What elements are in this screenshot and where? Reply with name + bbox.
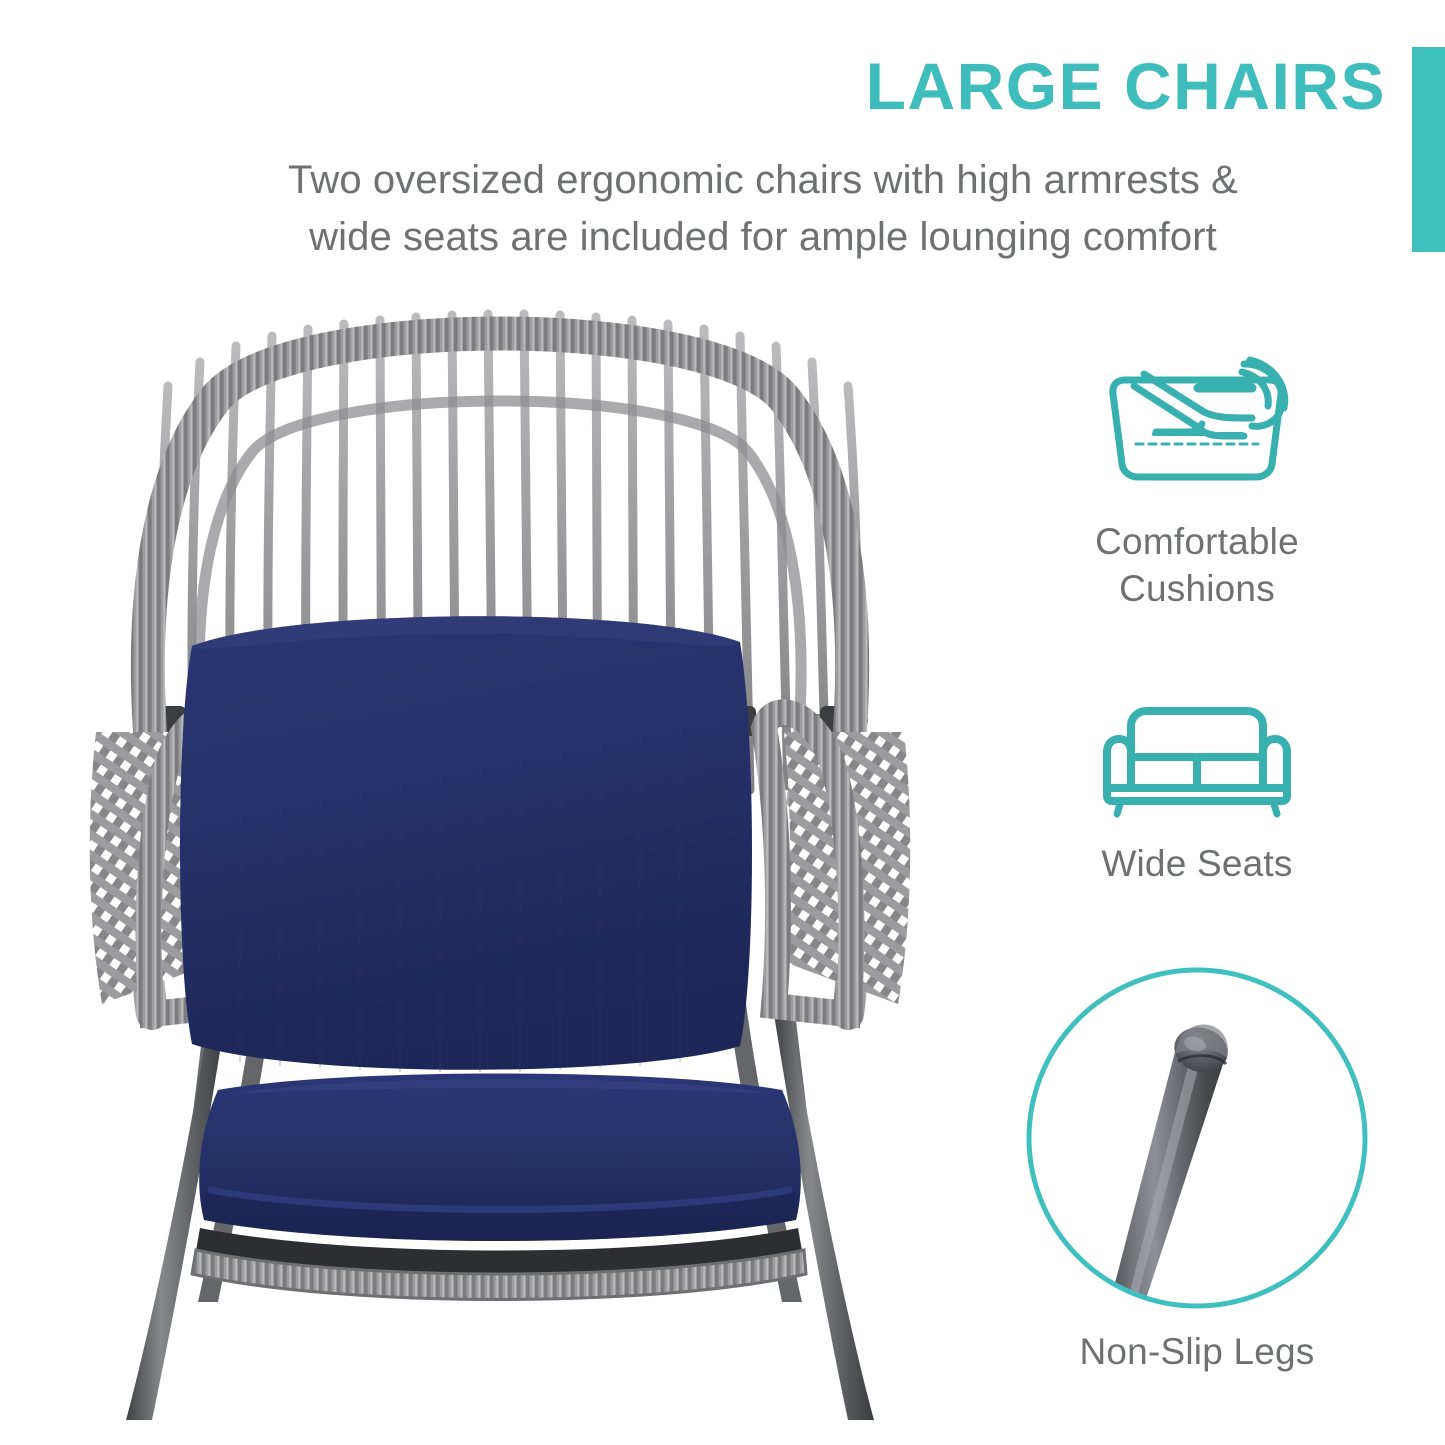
cushion-hand-press-icon (1092, 348, 1302, 498)
feature-label: Non-Slip Legs (1012, 1328, 1382, 1375)
feature-comfortable-cushions: Comfortable Cushions (1012, 348, 1382, 613)
sofa-icon (1097, 700, 1297, 820)
feature-label-line-1: Comfortable (1012, 518, 1382, 565)
feature-wide-seats: Wide Seats (1012, 700, 1382, 887)
accent-bar (1412, 47, 1445, 252)
feature-label: Comfortable Cushions (1012, 518, 1382, 613)
feature-label-line-1: Wide Seats (1012, 840, 1382, 887)
seat-cushion (199, 1074, 801, 1242)
feature-non-slip-legs: Non-Slip Legs (1012, 962, 1382, 1375)
page-title: LARGE CHAIRS (0, 52, 1386, 122)
armchair-illustration (40, 262, 960, 1422)
feature-label-line-1: Non-Slip Legs (1012, 1328, 1382, 1375)
header: LARGE CHAIRS Two oversized ergonomic cha… (0, 0, 1445, 300)
feature-label: Wide Seats (1012, 840, 1382, 887)
leg-photo-circle (1021, 962, 1373, 1314)
chair-leg-closeup-photo (1021, 962, 1373, 1314)
feature-label-line-2: Cushions (1012, 565, 1382, 612)
subtitle-line-2: wide seats are included for ample loungi… (120, 209, 1406, 266)
page-subtitle: Two oversized ergonomic chairs with high… (120, 152, 1406, 266)
product-image (40, 262, 960, 1422)
subtitle-line-1: Two oversized ergonomic chairs with high… (120, 152, 1406, 209)
